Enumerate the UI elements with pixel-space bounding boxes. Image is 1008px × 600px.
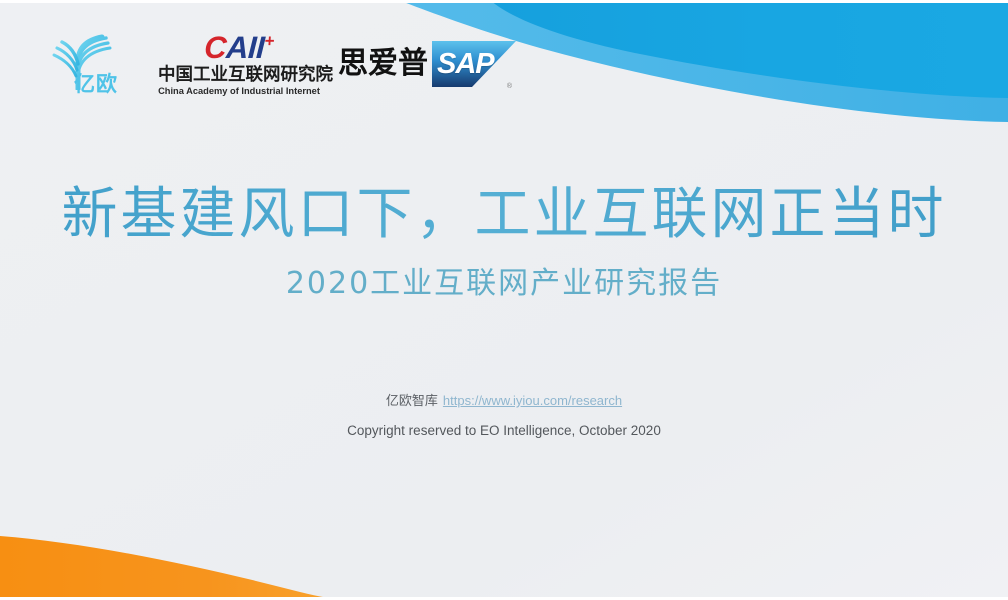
credit-block: 亿欧智库https://www.iyiou.com/research Copyr… [0, 392, 1008, 440]
sap-registered-icon: ® [507, 83, 512, 90]
caii-name-en: China Academy of Industrial Internet [158, 86, 320, 96]
caii-plus-icon: + [264, 32, 274, 51]
yiou-wordmark: 亿欧 [74, 74, 118, 95]
sap-name-cn: 思爱普 [338, 49, 428, 79]
title-slide: 亿欧 CAII+ 中国工业互联网研究院 China Academy of Ind… [0, 0, 1008, 600]
page-subtitle: 2020工业互联网产业研究报告 [0, 264, 1008, 303]
logo-caii: CAII+ 中国工业互联网研究院 China Academy of Indust… [158, 32, 320, 106]
caii-letters-aii: AII [225, 30, 265, 65]
publisher-line: 亿欧智库https://www.iyiou.com/research [0, 392, 1008, 411]
sap-mark: SAP ® [432, 41, 516, 87]
page-title: 新基建风口下，工业互联网正当时 [0, 182, 1008, 248]
caii-acronym: CAII+ [157, 32, 321, 63]
caii-letter-c: C [203, 30, 227, 65]
copyright-line: Copyright reserved to EO Intelligence, O… [0, 422, 1008, 440]
logo-bar: 亿欧 CAII+ 中国工业互联网研究院 China Academy of Ind… [44, 28, 516, 106]
logo-sap: 思爱普 SAP ® [338, 28, 516, 106]
logo-yiou: 亿欧 [44, 32, 140, 106]
research-url-link[interactable]: https://www.iyiou.com/research [443, 393, 622, 408]
caii-name-cn: 中国工业互联网研究院 [158, 65, 320, 85]
sap-wordmark: SAP [437, 46, 494, 82]
wave-orange [0, 536, 344, 600]
publisher-name: 亿欧智库 [386, 394, 438, 409]
title-block: 新基建风口下，工业互联网正当时 2020工业互联网产业研究报告 [0, 182, 1008, 303]
slide-top-edge [0, 0, 1008, 3]
wave-dark-blue [490, 0, 1008, 98]
